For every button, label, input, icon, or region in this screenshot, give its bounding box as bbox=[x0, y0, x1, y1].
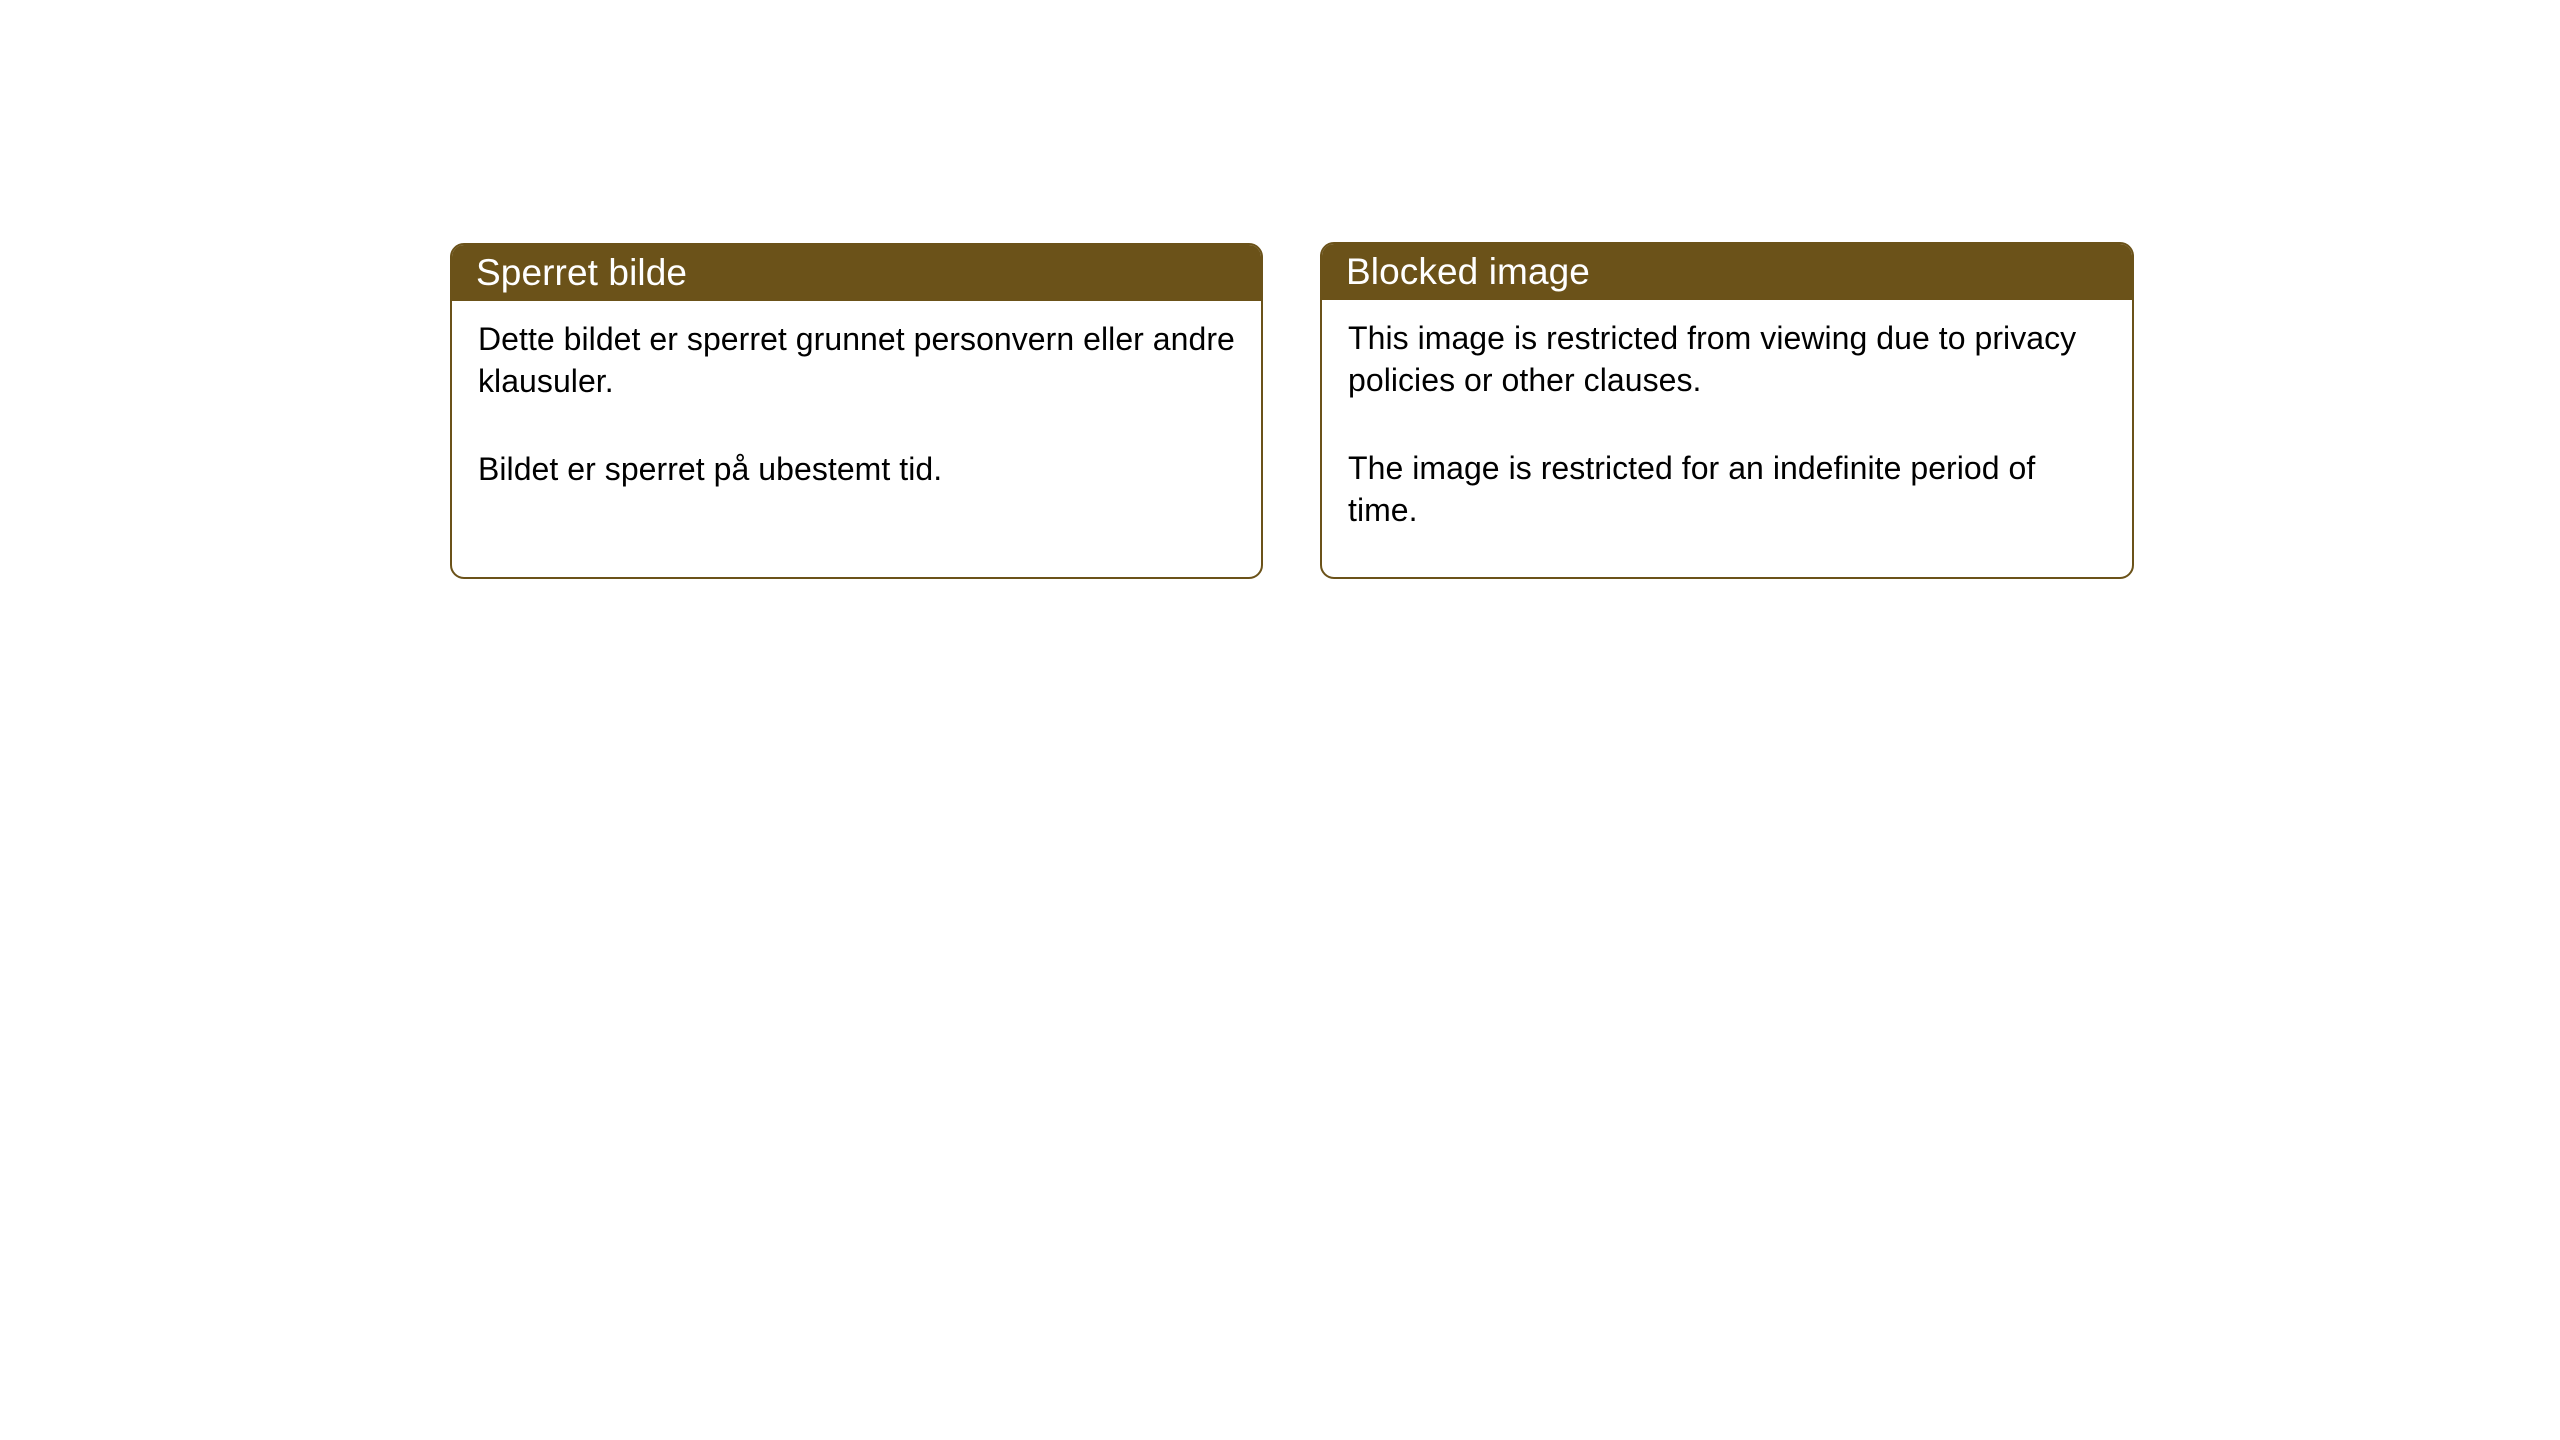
blocked-image-notice-norwegian: Sperret bilde Dette bildet er sperret gr… bbox=[450, 243, 1263, 579]
notice-paragraph-reason-english: This image is restricted from viewing du… bbox=[1348, 318, 2106, 402]
notice-title-norwegian: Sperret bilde bbox=[476, 254, 687, 291]
notice-header-english: Blocked image bbox=[1320, 242, 2134, 300]
notice-body-norwegian: Dette bildet er sperret grunnet personve… bbox=[452, 301, 1261, 491]
paragraph-spacer bbox=[1348, 402, 2106, 448]
paragraph-spacer bbox=[478, 403, 1235, 449]
notice-paragraph-duration-norwegian: Bildet er sperret på ubestemt tid. bbox=[478, 449, 1235, 491]
notice-paragraph-duration-english: The image is restricted for an indefinit… bbox=[1348, 448, 2106, 532]
notice-paragraph-reason-norwegian: Dette bildet er sperret grunnet personve… bbox=[478, 319, 1235, 403]
blocked-image-notice-english: Blocked image This image is restricted f… bbox=[1320, 242, 2134, 579]
notice-body-english: This image is restricted from viewing du… bbox=[1322, 300, 2132, 532]
notice-header-norwegian: Sperret bilde bbox=[450, 243, 1263, 301]
notice-title-english: Blocked image bbox=[1346, 253, 1590, 290]
page-canvas: Sperret bilde Dette bildet er sperret gr… bbox=[0, 0, 2560, 1440]
